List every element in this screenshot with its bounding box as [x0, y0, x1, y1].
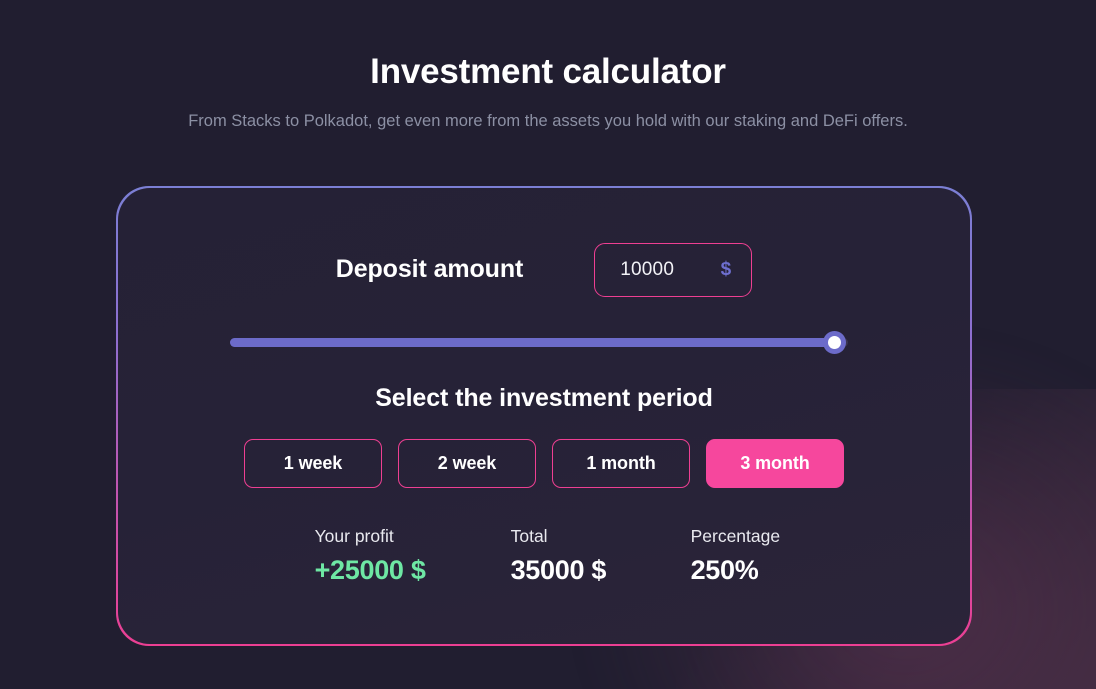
period-button-1-month[interactable]: 1 month — [552, 439, 690, 488]
slider-thumb-handle[interactable] — [823, 331, 846, 354]
period-button-3-month[interactable]: 3 month — [706, 439, 844, 488]
page-title: Investment calculator — [0, 50, 1096, 94]
result-label-percentage: Percentage — [691, 525, 861, 547]
deposit-amount-value[interactable]: 10000 — [620, 259, 674, 281]
deposit-amount-label: Deposit amount — [336, 255, 524, 284]
result-your-profit: Your profit +25000 $ — [315, 525, 511, 587]
period-button-2-week[interactable]: 2 week — [398, 439, 536, 488]
results-row: Your profit +25000 $ Total 35000 $ Perce… — [315, 525, 861, 587]
deposit-amount-slider[interactable] — [230, 329, 862, 355]
result-value-total: 35000 $ — [511, 554, 691, 587]
investment-period-buttons: 1 week 2 week 1 month 3 month — [118, 439, 971, 488]
investment-calculator-page: Investment calculator From Stacks to Pol… — [0, 0, 1096, 689]
result-label-total: Total — [511, 525, 691, 547]
period-button-1-week[interactable]: 1 week — [244, 439, 382, 488]
deposit-amount-input[interactable]: 10000 $ — [594, 243, 752, 297]
calculator-card: Deposit amount 10000 $ Select the invest… — [118, 188, 971, 645]
result-value-percentage: 250% — [691, 554, 861, 587]
calculator-card-border: Deposit amount 10000 $ Select the invest… — [116, 186, 972, 646]
result-label-your-profit: Your profit — [315, 525, 511, 547]
investment-period-title: Select the investment period — [118, 384, 971, 413]
result-percentage: Percentage 250% — [691, 525, 861, 587]
result-total: Total 35000 $ — [511, 525, 691, 587]
result-value-your-profit: +25000 $ — [315, 554, 511, 587]
page-subtitle: From Stacks to Polkadot, get even more f… — [0, 108, 1096, 135]
deposit-amount-row: Deposit amount 10000 $ — [118, 243, 971, 297]
slider-fill — [230, 338, 838, 347]
currency-symbol-icon: $ — [721, 259, 732, 281]
page-header: Investment calculator From Stacks to Pol… — [0, 0, 1096, 135]
